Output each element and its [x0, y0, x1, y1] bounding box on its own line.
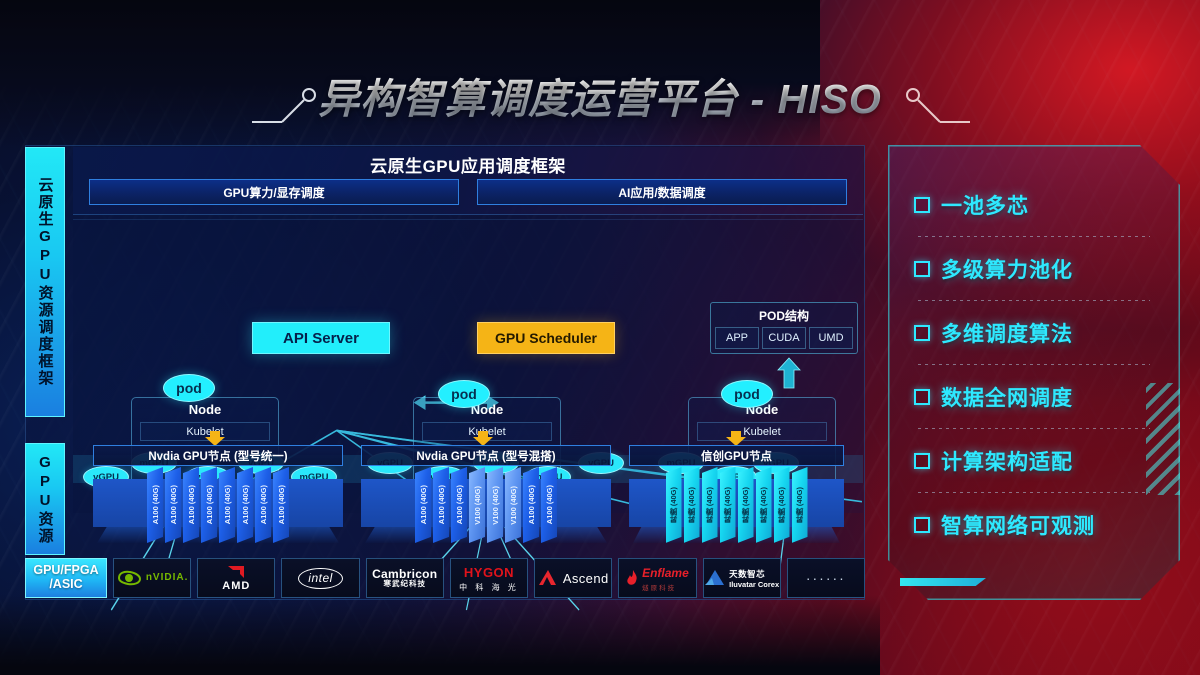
- gpu-card-label: A100 (40G): [277, 485, 286, 524]
- vendor-logo-enflame[interactable]: Enflame 燧原科技: [618, 558, 696, 598]
- enflame-flame-icon: [626, 569, 639, 587]
- api-server-box[interactable]: API Server: [252, 322, 390, 354]
- gpu-card-label: 昇腾 (40G): [740, 487, 751, 523]
- gpu-card[interactable]: V100 (40G): [505, 467, 521, 543]
- gpu-card[interactable]: 昇腾 (40G): [756, 467, 772, 543]
- pill-ai-app-data-scheduling[interactable]: AI应用/数据调度: [477, 179, 847, 205]
- gpu-card[interactable]: A100 (40G): [183, 467, 199, 543]
- title-left-decoration-icon: [252, 78, 322, 128]
- pod-structure-box[interactable]: POD结构 APP CUDA UMD: [710, 302, 858, 354]
- gpu-card-label: 昇腾 (40G): [758, 487, 769, 523]
- feature-list: 一池多芯 多级算力池化 多维调度算法 数据全网调度 计算架构适配 智算网络可观测: [914, 173, 1164, 576]
- vendor-subname: 中 科 海 光: [459, 582, 519, 593]
- vendor-subname: 燧原科技: [642, 582, 689, 592]
- gpu-group-title: Nvdia GPU节点 (型号统一): [93, 445, 343, 466]
- pod-structure-title: POD结构: [711, 307, 857, 324]
- pod-ellipse-2[interactable]: pod: [438, 380, 490, 408]
- feature-label: 计算架构适配: [941, 446, 1073, 476]
- vendor-name-block: 天数智芯 Iluvatar Corex: [729, 568, 779, 589]
- gpu-card-label: A100 (40G): [223, 485, 232, 524]
- gpu-card-label: 昇腾 (40G): [776, 487, 787, 523]
- gpu-card-label: V100 (40G): [509, 486, 518, 525]
- gpu-card-label: A100 (40G): [545, 485, 554, 524]
- iluvatar-mountain-icon: [704, 569, 726, 587]
- vendor-name: Ascend: [563, 571, 609, 586]
- gpu-card[interactable]: A100 (40G): [273, 467, 289, 543]
- gpu-card-label: A100 (40G): [169, 485, 178, 524]
- feature-item-3[interactable]: 多维调度算法: [914, 301, 1164, 365]
- gpu-scheduler-label: GPU Scheduler: [495, 330, 597, 346]
- vendor-logo-row: GPU/FPGA /ASIC nVIDIA. AMD intel Cambric: [25, 558, 865, 598]
- gpu-card-list: A100 (40G) A100 (40G) A100 (40G) A100 (4…: [93, 467, 343, 543]
- checkbox-square-icon: [914, 517, 930, 533]
- gpu-card-label: A100 (40G): [455, 485, 464, 524]
- gpu-card-label: 昇腾 (40G): [722, 487, 733, 523]
- feature-label: 多维调度算法: [941, 318, 1073, 348]
- page-title: 异构智算调度运营平台 - HISO: [318, 65, 882, 125]
- sidebar-tab-cloud-native-framework[interactable]: 云原生GPU资源调度框架: [25, 147, 65, 417]
- gpu-resource-row: Nvdia GPU节点 (型号统一) A100 (40G) A100 (40G)…: [73, 445, 863, 553]
- vendor-logo-intel[interactable]: intel: [281, 558, 359, 598]
- gpu-card[interactable]: 昇腾 (40G): [720, 467, 736, 543]
- gpu-card-label: 昇腾 (40G): [794, 487, 805, 523]
- vendor-name: nVIDIA.: [146, 573, 189, 584]
- gpu-card[interactable]: A100 (40G): [165, 467, 181, 543]
- architecture-panel: 云原生GPU资源调度框架 GPU资源 云原生GPU应用调度框架 GPU算力/显存…: [25, 145, 865, 600]
- gpu-card-label: A100 (40G): [419, 485, 428, 524]
- feature-item-4[interactable]: 数据全网调度: [914, 365, 1164, 429]
- vendor-name: AMD: [222, 580, 250, 592]
- sidebar-tab-label: GPU资源: [38, 454, 53, 545]
- pod-ellipse-1[interactable]: pod: [163, 374, 215, 402]
- gpu-card[interactable]: 昇腾 (40G): [774, 467, 790, 543]
- nvidia-eye-icon: [116, 570, 142, 586]
- gpu-card-label: A100 (40G): [259, 485, 268, 524]
- checkbox-square-icon: [914, 453, 930, 469]
- amd-arrow-icon: [226, 564, 246, 580]
- vendor-name-block: Enflame 燧原科技: [642, 564, 689, 592]
- slide-title-area: 异构智算调度运营平台 - HISO: [0, 64, 1200, 126]
- gpu-card-list: 昇腾 (40G) 昇腾 (40G) 昇腾 (40G) 昇腾 (40G) 昇腾 (…: [629, 467, 844, 543]
- pod-up-arrow-icon: [776, 356, 802, 390]
- gpu-group-xinchuang: 信创GPU节点 昇腾 (40G) 昇腾 (40G) 昇腾 (40G) 昇腾 (4…: [629, 445, 844, 553]
- gpu-card-label: A100 (40G): [527, 485, 536, 524]
- vendor-row-label: GPU/FPGA /ASIC: [25, 558, 107, 598]
- background-bottom-shade: [0, 595, 880, 675]
- vendor-subname: 寒武纪科技: [372, 580, 437, 588]
- vendor-logo-cambricon[interactable]: Cambricon 寒武纪科技: [366, 558, 444, 598]
- gpu-card-label: 昇腾 (40G): [704, 487, 715, 523]
- feature-item-2[interactable]: 多级算力池化: [914, 237, 1164, 301]
- pill-gpu-compute-memory-scheduling[interactable]: GPU算力/显存调度: [89, 179, 459, 205]
- gpu-card[interactable]: 昇腾 (40G): [792, 467, 808, 543]
- node-title: Node: [132, 402, 278, 417]
- gpu-card-label: A100 (40G): [205, 485, 214, 524]
- gpu-card[interactable]: A100 (40G): [147, 467, 163, 543]
- vendor-logo-iluvatar[interactable]: 天数智芯 Iluvatar Corex: [703, 558, 781, 598]
- vendor-name-block: HYGON 中 科 海 光: [459, 564, 519, 593]
- gpu-card[interactable]: 昇腾 (40G): [702, 467, 718, 543]
- gpu-card[interactable]: V100 (40G): [487, 467, 503, 543]
- gpu-card-label: 昇腾 (40G): [686, 487, 697, 523]
- vendor-logo-hygon[interactable]: HYGON 中 科 海 光: [450, 558, 528, 598]
- vendor-logo-ascend[interactable]: Ascend: [534, 558, 612, 598]
- vendor-name: ······: [806, 570, 846, 586]
- gpu-card[interactable]: A100 (40G): [219, 467, 235, 543]
- checkbox-square-icon: [914, 389, 930, 405]
- feature-label: 一池多芯: [941, 190, 1029, 220]
- vendor-name: Enflame: [642, 566, 689, 580]
- pod-ellipse-3[interactable]: pod: [721, 380, 773, 408]
- gpu-card[interactable]: A100 (40G): [523, 467, 539, 543]
- ascend-mark-icon: [538, 569, 558, 587]
- checkbox-square-icon: [914, 261, 930, 277]
- pod-cell-app: APP: [715, 327, 759, 349]
- gpu-card[interactable]: 昇腾 (40G): [666, 467, 682, 543]
- feature-label: 数据全网调度: [941, 382, 1073, 412]
- gpu-card[interactable]: A100 (40G): [255, 467, 271, 543]
- gpu-card-label: A100 (40G): [187, 485, 196, 524]
- gpu-card[interactable]: A100 (40G): [201, 467, 217, 543]
- gpu-card-label: V100 (40G): [491, 486, 500, 525]
- pill-label: AI应用/数据调度: [618, 184, 705, 201]
- feature-label: 多级算力池化: [941, 254, 1073, 284]
- gpu-card-label: V100 (40G): [473, 486, 482, 525]
- vendor-name: HYGON: [464, 565, 514, 580]
- framework-title: 云原生GPU应用调度框架: [73, 152, 863, 177]
- gpu-card-list: A100 (40G) A100 (40G) A100 (40G) V100 (4…: [361, 467, 611, 543]
- feature-item-1[interactable]: 一池多芯: [914, 173, 1164, 237]
- feature-panel: 一池多芯 多级算力池化 多维调度算法 数据全网调度 计算架构适配 智算网络可观测: [888, 145, 1180, 600]
- gpu-group-title: Nvdia GPU节点 (型号混搭): [361, 445, 611, 466]
- pill-label: GPU算力/显存调度: [223, 184, 324, 201]
- checkbox-square-icon: [914, 325, 930, 341]
- vendor-subname: Iluvatar Corex: [729, 580, 779, 589]
- pod-structure-cells: APP CUDA UMD: [715, 327, 853, 349]
- vendor-name: intel: [298, 568, 343, 589]
- pod-cell-cuda: CUDA: [762, 327, 806, 349]
- pod-cell-umd: UMD: [809, 327, 853, 349]
- node-title: Node: [414, 402, 560, 417]
- feature-item-6[interactable]: 智算网络可观测: [914, 493, 1164, 557]
- feature-label: 智算网络可观测: [941, 510, 1095, 540]
- framework-header: 云原生GPU应用调度框架 GPU算力/显存调度 AI应用/数据调度: [73, 147, 863, 215]
- vendor-logo-more[interactable]: ······: [787, 558, 865, 598]
- gpu-group-nvidia-mixed: Nvdia GPU节点 (型号混搭) A100 (40G) A100 (40G)…: [361, 445, 611, 553]
- gpu-card[interactable]: A100 (40G): [415, 467, 431, 543]
- gpu-card-label: 昇腾 (40G): [668, 487, 679, 523]
- pod-label: pod: [451, 386, 477, 402]
- gpu-card-label: A100 (40G): [151, 485, 160, 524]
- vendor-label-line1: GPU/FPGA: [33, 564, 98, 578]
- pod-label: pod: [734, 386, 760, 402]
- vendor-logo-amd[interactable]: AMD: [197, 558, 275, 598]
- gpu-card[interactable]: 昇腾 (40G): [684, 467, 700, 543]
- vendor-logo-nvidia[interactable]: nVIDIA.: [113, 558, 191, 598]
- sidebar-tab-gpu-resource[interactable]: GPU资源: [25, 443, 65, 555]
- gpu-card-label: A100 (40G): [241, 485, 250, 524]
- vendor-name-block: Cambricon 寒武纪科技: [372, 568, 437, 588]
- gpu-card[interactable]: A100 (40G): [433, 467, 449, 543]
- feature-panel-bottom-tick-decoration: [900, 578, 986, 586]
- pod-label: pod: [176, 380, 202, 396]
- sidebar-tab-label: 云原生GPU资源调度框架: [38, 177, 53, 387]
- gpu-card[interactable]: V100 (40G): [469, 467, 485, 543]
- gpu-card[interactable]: A100 (40G): [541, 467, 557, 543]
- api-server-label: API Server: [283, 330, 359, 347]
- feature-item-5[interactable]: 计算架构适配: [914, 429, 1164, 493]
- vendor-label-line2: /ASIC: [49, 578, 82, 592]
- gpu-card[interactable]: 昇腾 (40G): [738, 467, 754, 543]
- gpu-group-title: 信创GPU节点: [629, 445, 844, 466]
- gpu-scheduler-box[interactable]: GPU Scheduler: [477, 322, 615, 354]
- gpu-group-nvidia-uniform: Nvdia GPU节点 (型号统一) A100 (40G) A100 (40G)…: [93, 445, 343, 553]
- gpu-card-label: A100 (40G): [437, 485, 446, 524]
- title-right-decoration-icon: [900, 78, 970, 128]
- slide-canvas: 异构智算调度运营平台 - HISO 云原生GPU资源调度框架 GPU资源 云原生…: [0, 0, 1200, 675]
- checkbox-square-icon: [914, 197, 930, 213]
- gpu-card[interactable]: A100 (40G): [237, 467, 253, 543]
- gpu-card[interactable]: A100 (40G): [451, 467, 467, 543]
- vendor-name: 天数智芯: [729, 568, 779, 580]
